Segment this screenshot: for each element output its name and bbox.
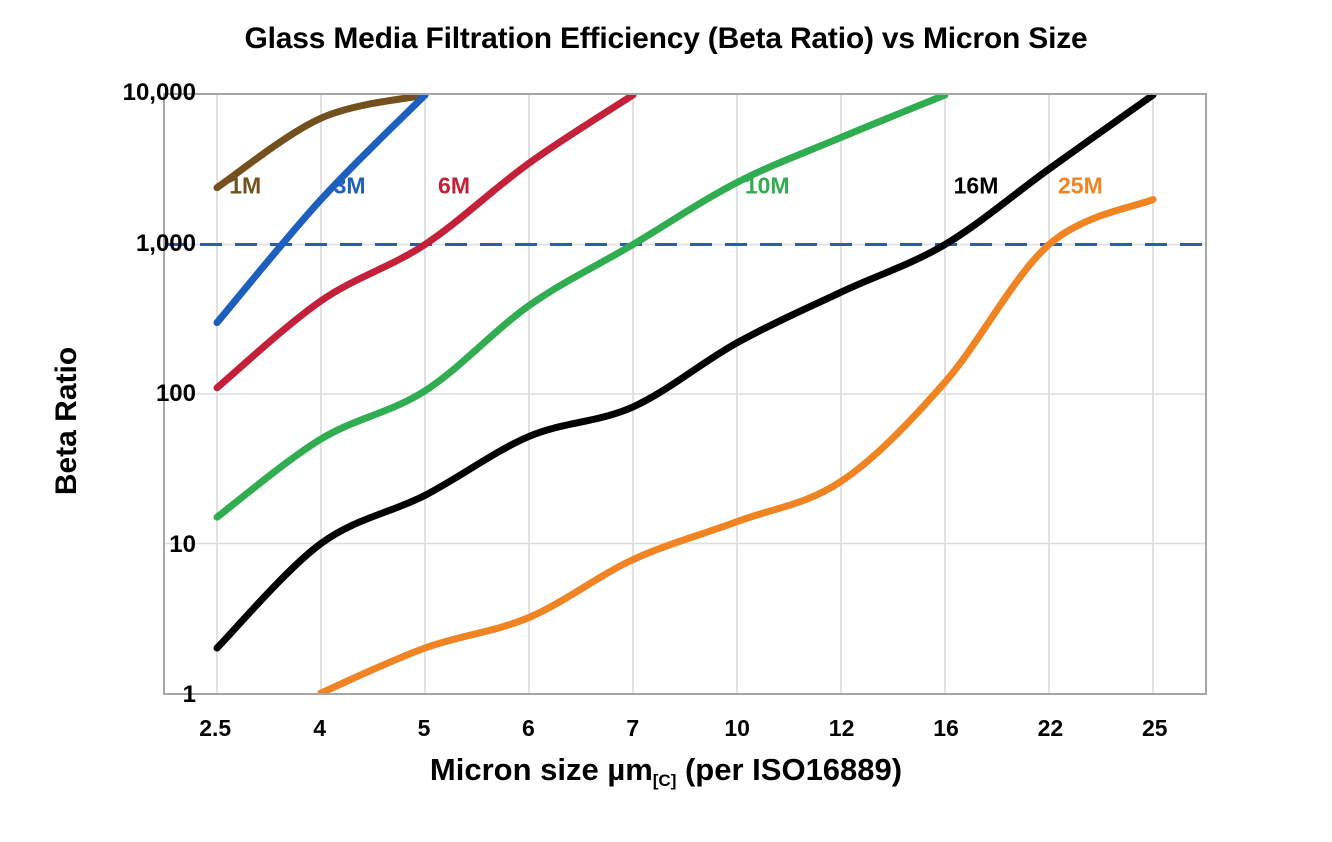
x-tick-22: 22 xyxy=(1038,715,1064,742)
y-axis-title: Beta Ratio xyxy=(50,347,84,495)
series-label-1m: 1M xyxy=(229,173,261,200)
plot-svg xyxy=(165,95,1205,693)
y-tick-10: 10 xyxy=(169,531,196,559)
y-tick-100: 100 xyxy=(156,380,196,408)
series-line-10m xyxy=(217,95,945,517)
x-axis-title-tail: (per ISO16889) xyxy=(676,752,902,787)
x-tick-6: 6 xyxy=(522,715,535,742)
series-label-25m: 25M xyxy=(1058,173,1103,200)
y-tick-1000: 1,000 xyxy=(136,230,196,258)
page-title: Glass Media Filtration Efficiency (Beta … xyxy=(0,22,1332,56)
x-tick-12: 12 xyxy=(829,715,855,742)
x-tick-4: 4 xyxy=(313,715,326,742)
x-tick-2-5: 2.5 xyxy=(199,715,231,742)
x-tick-16: 16 xyxy=(933,715,959,742)
x-tick-5: 5 xyxy=(418,715,431,742)
series-label-10m: 10M xyxy=(745,173,790,200)
x-tick-7: 7 xyxy=(626,715,639,742)
y-tick-1: 1 xyxy=(183,681,196,709)
plot-area xyxy=(163,93,1207,695)
x-axis-title-main: Micron size µm xyxy=(430,752,653,787)
x-axis-title-subscript: [C] xyxy=(653,771,677,790)
series-label-3m: 3M xyxy=(334,173,366,200)
chart-root: Glass Media Filtration Efficiency (Beta … xyxy=(0,0,1332,842)
gridlines xyxy=(165,95,1205,693)
x-tick-10: 10 xyxy=(724,715,750,742)
series-label-16m: 16M xyxy=(954,173,999,200)
series-label-6m: 6M xyxy=(438,173,470,200)
x-axis-title: Micron size µm[C] (per ISO16889) xyxy=(0,752,1332,788)
y-tick-10000: 10,000 xyxy=(123,79,196,107)
x-tick-25: 25 xyxy=(1142,715,1168,742)
